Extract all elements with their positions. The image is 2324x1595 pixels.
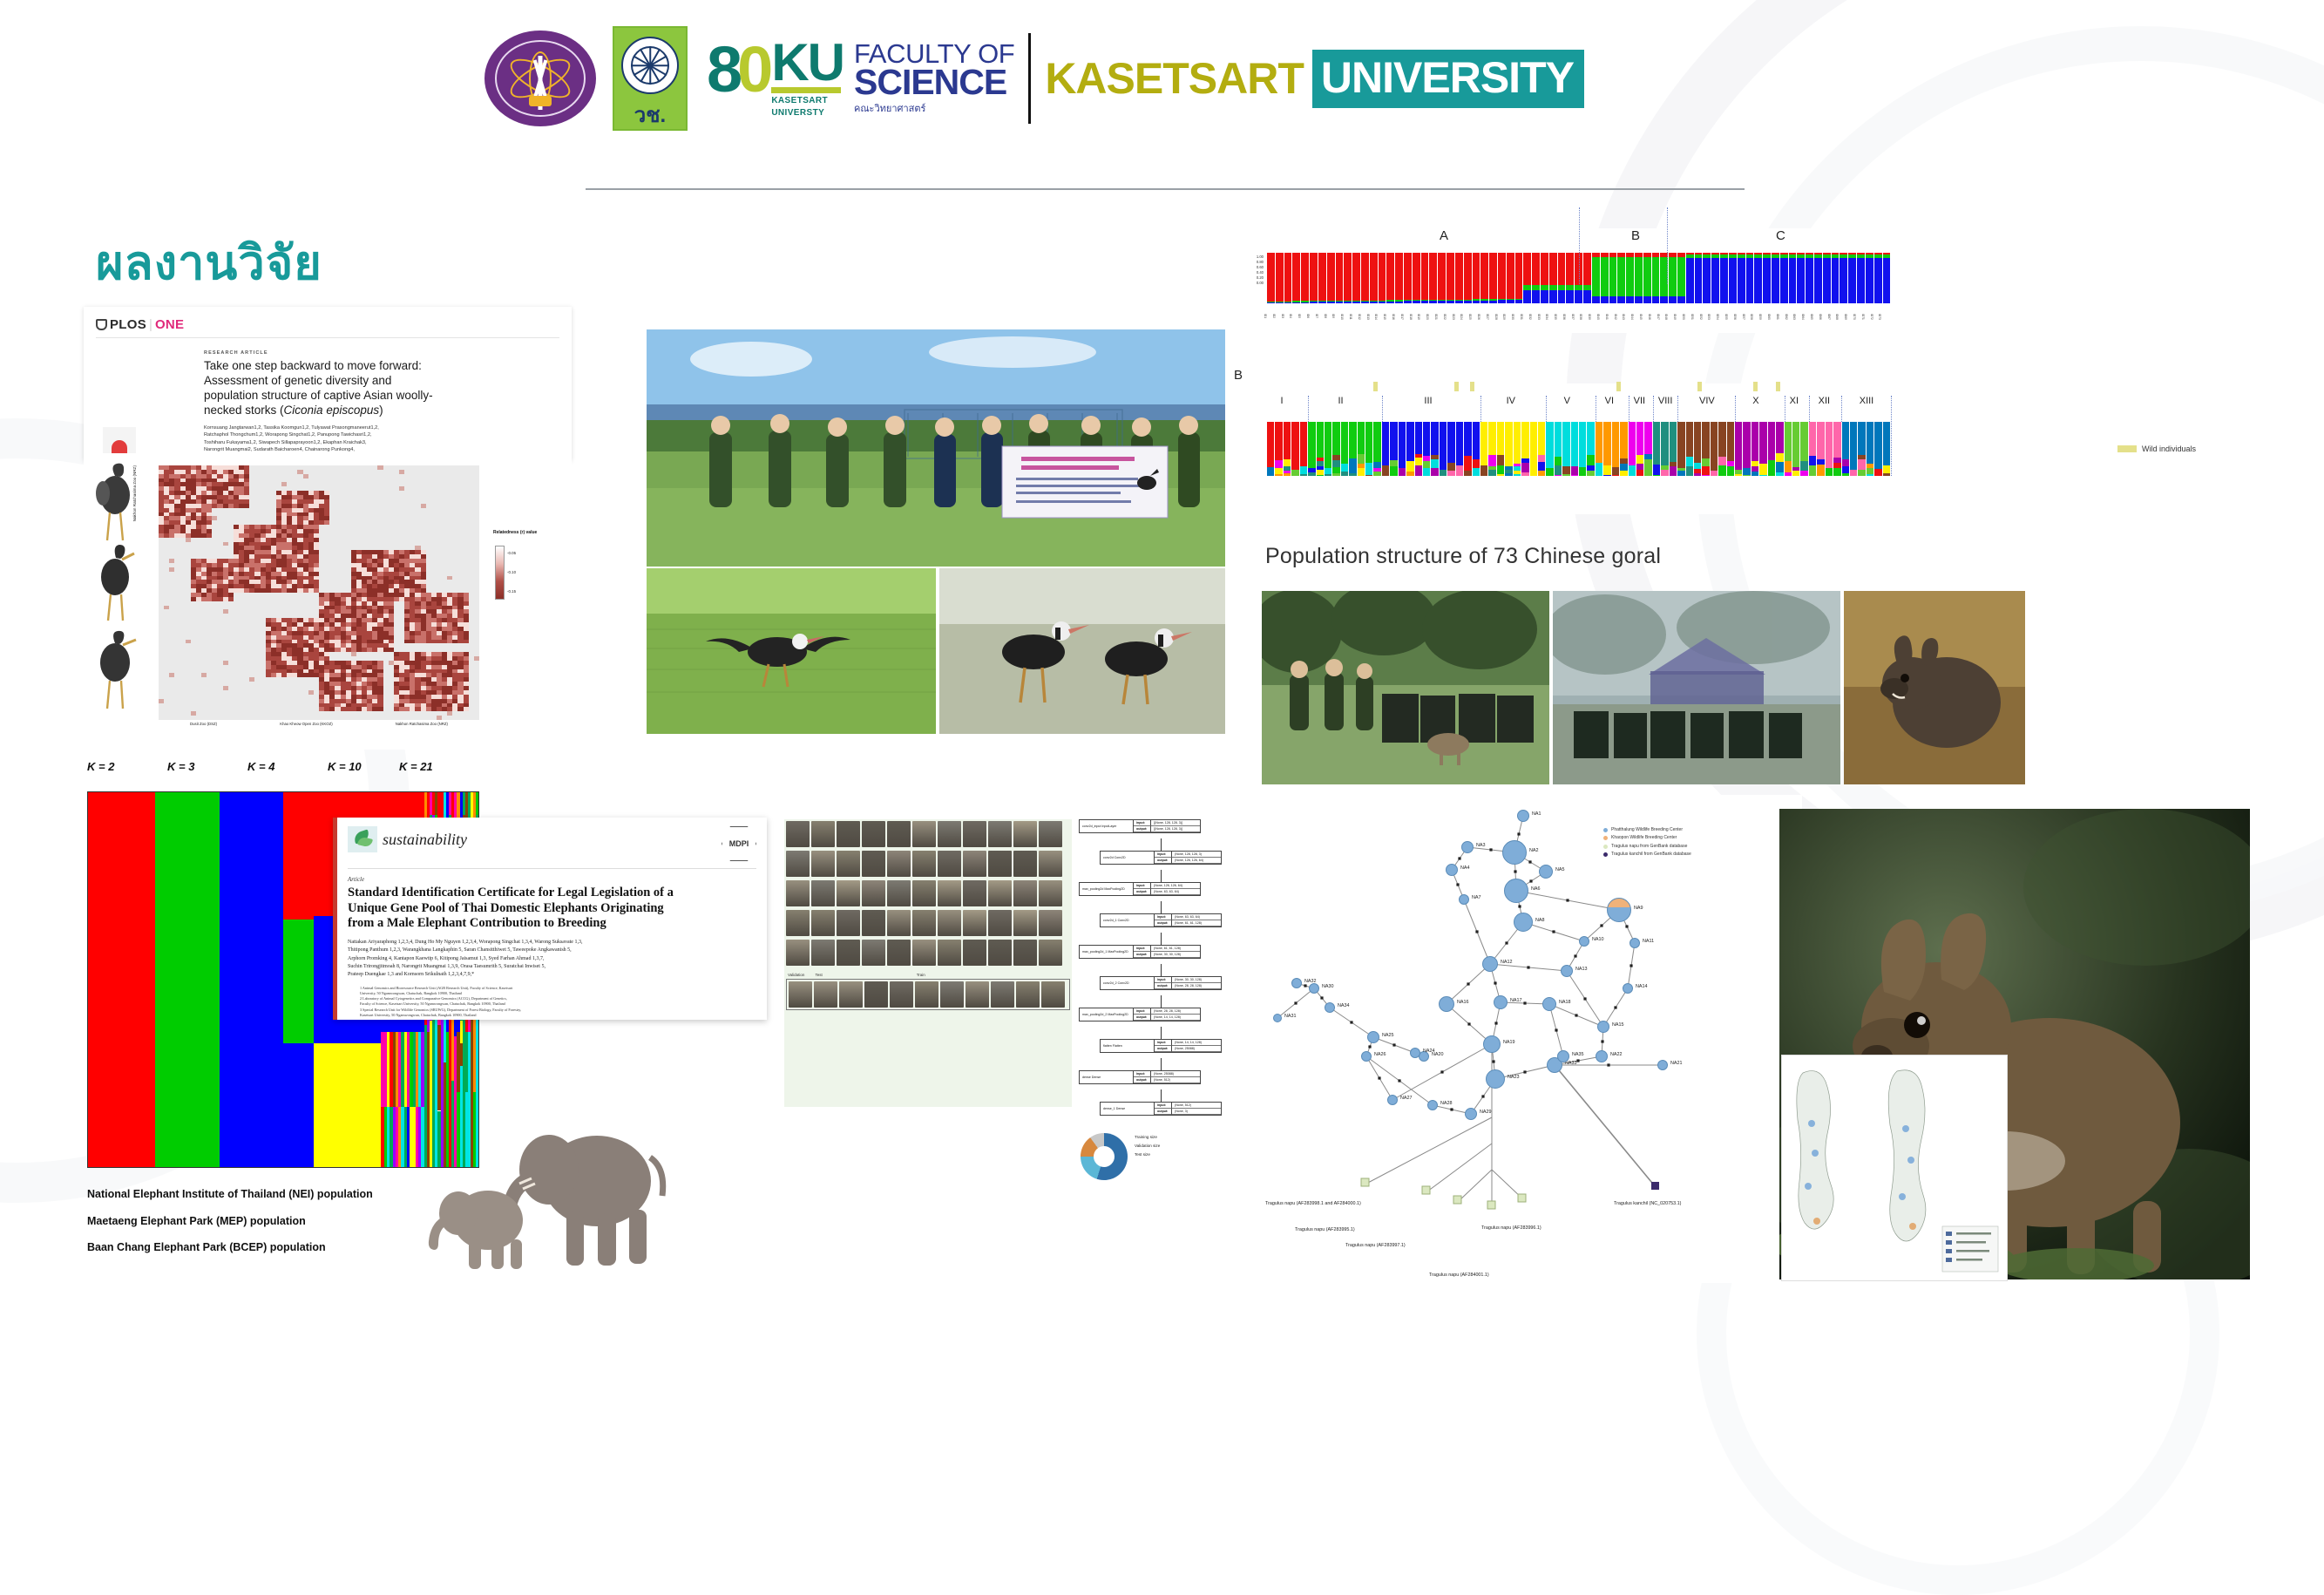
haplotype-node — [1387, 1095, 1398, 1105]
haplotype-network-svg — [1262, 795, 1802, 1283]
goral-bar — [1792, 422, 1800, 476]
haplotype-node-label: NA11 — [1643, 939, 1654, 944]
goral-bar — [1395, 253, 1404, 303]
goral-bar — [1669, 253, 1677, 303]
haplotype-node-label: NA27 — [1400, 1096, 1413, 1101]
flow-arrow — [1161, 1089, 1162, 1102]
goral-closeup-svg — [1844, 591, 2025, 784]
haplotype-node-label: NA7 — [1472, 895, 1481, 900]
goral-bar — [1523, 253, 1532, 303]
flow-node-io: input:(None, 14, 14, 128)output:(None, 2… — [1155, 1040, 1221, 1052]
goral-group-label-C: C — [1776, 228, 1785, 243]
goral-y-axis-k3: 1.00 0.80 0.60 0.40 0.20 0.00 — [1243, 255, 1264, 287]
flow-node-io: input:(None, 25088)output:(None, 512) — [1134, 1071, 1200, 1083]
goral-barplot-k13 — [1267, 422, 1891, 476]
flow-io-value: (None, 30, 30, 128) — [1172, 977, 1221, 983]
heatmap-colgroup-1: Khao Kheow Open Zoo (KKOZ) — [280, 722, 332, 726]
flow-io-value: (None, 28, 28, 128) — [1172, 983, 1221, 989]
elephant-pop-label-1: Maetaeng Elephant Park (MEP) population — [87, 1208, 373, 1235]
haplotype-node — [1557, 1050, 1569, 1062]
hap-legend-swatch-2 — [1603, 845, 1608, 849]
goral-release-photo-2 — [1553, 591, 1840, 784]
haplotype-node-label: NA24 — [1423, 1049, 1435, 1054]
elephant-thumbnail — [862, 880, 885, 906]
goral-bar — [1267, 253, 1276, 303]
flow-io-key: input: — [1155, 914, 1172, 920]
goral-bar — [1601, 253, 1609, 303]
goral-bar — [1514, 422, 1521, 476]
goral-bar — [1652, 253, 1661, 303]
goral-bar — [1806, 253, 1814, 303]
plos-one-wordmark: ONE — [155, 317, 184, 332]
goral-bar — [1292, 253, 1301, 303]
goral-bar — [1415, 422, 1423, 476]
goral-bar — [1636, 422, 1644, 476]
elephant-thumbnail — [915, 981, 938, 1008]
haplotype-network-legend: Phatthalung Wildlife Breeding Center Kha… — [1603, 826, 1691, 859]
haplotype-node-label: NA29 — [1480, 1110, 1492, 1115]
goral-bar — [1538, 422, 1546, 476]
flow-node: max_pooling2d_2 MaxPooling2Dinput:(None,… — [1079, 1008, 1201, 1021]
elephant-thumbnail — [966, 981, 989, 1008]
haplotype-node — [1542, 997, 1556, 1011]
goral-bar — [1549, 253, 1558, 303]
elephant-thumbnail — [837, 940, 860, 966]
elephant-split-test: Test — [815, 973, 822, 977]
haplotype-node — [1309, 983, 1319, 994]
plos-article-title: Take one step backward to move forward: … — [204, 359, 559, 418]
elephant-thumbnail — [1039, 880, 1062, 906]
storks-pair-svg — [939, 568, 1225, 734]
flow-node-io: input:(None, 126, 126, 64)output:(None, … — [1134, 883, 1200, 895]
flow-node-io: input:(None, 30, 30, 128)output:(None, 2… — [1155, 977, 1221, 989]
k-label-3: K = 10 — [328, 760, 399, 773]
goral-bar — [1489, 253, 1498, 303]
haplotype-node-label: NA30 — [1322, 984, 1334, 989]
elephant-thumbnail — [988, 821, 1012, 847]
sustainability-leaf-icon — [348, 826, 377, 852]
goral-bar — [1521, 422, 1529, 476]
elephant-thumbnail — [940, 981, 964, 1008]
flow-io-key: output: — [1155, 858, 1172, 864]
k-label-0: K = 2 — [87, 760, 167, 773]
goral-bar — [1703, 253, 1711, 303]
plos-footer-logo-shape — [112, 440, 127, 453]
haplotype-node — [1465, 1108, 1477, 1120]
plos-footer-logo — [103, 427, 136, 453]
haplotype-node — [1623, 983, 1633, 994]
goral-ytick-5: 0.00 — [1243, 281, 1264, 286]
heatmap-colgroup-0: Dusit Zoo (DSZ) — [190, 722, 217, 726]
haplotype-node-label: NA16 — [1457, 1000, 1469, 1005]
stork-relatedness-heatmap-figure: Nakhon Ratchasima Zoo (NRZ) Relatedness … — [84, 453, 572, 750]
wild-marker — [1776, 382, 1780, 391]
flow-node-io: input:(None, 512)output:(None, 3) — [1155, 1103, 1221, 1115]
elephant-thumbnail — [912, 821, 936, 847]
elephant-thumbnail — [837, 880, 860, 906]
elephant-grid-row — [784, 819, 1072, 849]
heatmap-legend-tick-0: -0.05 — [507, 551, 516, 555]
goral-bar — [1609, 253, 1618, 303]
goral-bar — [1325, 422, 1332, 476]
mdpi-authors-line-5: Prateep Duengkae 1,3 and Kornsorn Srikul… — [348, 971, 755, 979]
goral-caption: Population structure of 73 Chinese goral — [1265, 544, 1661, 569]
ku-wordmark: KU — [771, 40, 844, 85]
goral-bar — [1751, 422, 1759, 476]
haplotype-node-label: NA19 — [1503, 1040, 1515, 1045]
flow-io-key: input: — [1134, 1008, 1151, 1015]
flow-io-value: (None, 63, 63, 64) — [1151, 889, 1200, 895]
goral-bar — [1352, 253, 1361, 303]
haplotype-node-label: NA21 — [1670, 1061, 1683, 1066]
elephant-thumbnail — [963, 821, 986, 847]
goral-bar — [1711, 422, 1718, 476]
faculty-of-science-block: FACULTY OF SCIENCE คณะวิทยาศาสตร์ — [854, 40, 1014, 116]
goral-bar — [1365, 422, 1373, 476]
goral-bar — [1746, 253, 1755, 303]
sustainability-brand: sustainability — [348, 826, 467, 852]
goral-bar — [1344, 253, 1352, 303]
goral-bar — [1842, 422, 1850, 476]
elephant-thumbnail — [786, 821, 810, 847]
elephant-split-validation: Validation — [788, 973, 804, 977]
goral-roman-label: XIII — [1860, 396, 1874, 406]
page-title: ผลงานวิจัย — [96, 225, 322, 300]
mdpi-article-title: Standard Identification Certificate for … — [337, 883, 767, 932]
elephant-thumbnail — [789, 981, 812, 1008]
donut-legend-item-2: Test size — [1135, 1150, 1160, 1159]
haplotype-node-label: NA23 — [1508, 1075, 1520, 1080]
goral-bar — [1661, 422, 1669, 476]
flow-node: conv2d_1 Conv2Dinput:(None, 63, 63, 64)o… — [1100, 913, 1222, 927]
goral-bar — [1390, 422, 1398, 476]
elephant-thumbnail — [912, 880, 936, 906]
haplotype-node — [1439, 996, 1454, 1012]
flow-io-key: output: — [1134, 889, 1151, 895]
flow-io-value: (None, 14, 14, 128) — [1151, 1015, 1200, 1021]
goral-bar — [1718, 422, 1726, 476]
haplotype-node-label: NA1 — [1532, 811, 1541, 817]
flow-arrow — [1161, 933, 1162, 945]
ku-80-digit-0: 0 — [737, 33, 768, 105]
k-label-2: K = 4 — [247, 760, 328, 773]
haplotype-node-label: NA17 — [1510, 998, 1522, 1003]
goral-roman-label: V — [1564, 396, 1570, 406]
header-horizontal-rule — [586, 188, 1745, 190]
goral-bar — [1759, 422, 1767, 476]
elephant-thumbnail — [786, 851, 810, 877]
haplotype-node — [1461, 841, 1474, 853]
haplotype-node-label: NA10 — [1592, 937, 1604, 942]
kasetsart-university-banner: KASETSART UNIVERSITY — [1045, 51, 1584, 105]
elephant-thumbnail — [1013, 940, 1037, 966]
wild-marker — [1454, 382, 1459, 391]
flow-node-io: input:(None, 28, 28, 128)output:(None, 1… — [1134, 1008, 1200, 1021]
elephant-thumbnail — [890, 981, 913, 1008]
mdpi-authors-line-1: Nattakan Ariyaraphong 1,2,3,4, Dung Ho M… — [348, 939, 755, 947]
flow-node: max_pooling2d_1 MaxPooling2Dinput:(None,… — [1079, 945, 1201, 959]
goral-bar — [1727, 422, 1735, 476]
elephant-thumbnail — [837, 910, 860, 936]
flow-node-name: conv2d_1 Conv2D — [1101, 914, 1155, 926]
elephant-thumbnail — [811, 910, 835, 936]
goral-bar — [1562, 422, 1570, 476]
goral-bar — [1763, 253, 1772, 303]
plos-kicker: RESEARCH ARTICLE — [204, 350, 559, 356]
plos-title-line-2: Assessment of genetic diversity and — [204, 374, 559, 389]
flow-io-key: output: — [1155, 983, 1172, 989]
flow-node: conv2d_input InputLayerinput:[(None, 128… — [1079, 819, 1201, 833]
goral-bar — [1629, 422, 1636, 476]
elephant-thumbnail — [963, 910, 986, 936]
goral-bar — [1284, 253, 1293, 303]
elephant-thumbnail — [991, 981, 1014, 1008]
goral-roman-label: XI — [1790, 396, 1799, 406]
seal-inner — [495, 40, 586, 117]
elephant-thumbnail — [988, 880, 1012, 906]
haplotype-node-label: NA32 — [1304, 979, 1317, 984]
flow-io-value: (None, 61, 61, 128) — [1172, 920, 1221, 926]
plos-wordmark: PLOS — [110, 317, 146, 332]
haplotype-node-label: NA5 — [1555, 867, 1565, 872]
logo-row: วช. 80 KU KASETSART UNIVERSTY FACULTY OF… — [478, 26, 1584, 131]
flow-io-key: input: — [1155, 1040, 1172, 1046]
mdpi-authors-line-2: Thitipong Panthum 1,2,3, Warangkhana Lan… — [348, 947, 755, 954]
goral-bar — [1677, 422, 1685, 476]
goral-bar — [1566, 253, 1575, 303]
flow-io-key: input: — [1134, 1071, 1151, 1077]
flow-io-key: input: — [1134, 946, 1151, 952]
goral-bar — [1541, 253, 1549, 303]
ku-universty-label: UNIVERSTY — [771, 108, 844, 118]
flow-node-name: flatten Flatten — [1101, 1040, 1155, 1052]
distribution-map-panel — [1781, 1055, 2008, 1281]
elephant-thumbnail — [862, 821, 885, 847]
goral-bar — [1507, 253, 1515, 303]
haplotype-node-label: NA18 — [1559, 1000, 1571, 1005]
plos-authors-line-1: Kornsuang Jangtarwan1,2, Tassika Koomgun… — [204, 424, 559, 432]
goral-bar — [1626, 253, 1635, 303]
goral-bar — [1644, 422, 1652, 476]
goral-roman-label: III — [1424, 396, 1432, 406]
goral-roman-label: I — [1281, 396, 1284, 406]
goral-bar — [1660, 253, 1669, 303]
goral-bar — [1743, 422, 1751, 476]
goral-x-axis-k13 — [1267, 478, 1891, 502]
elephant-thumbnail — [837, 821, 860, 847]
goral-group-label-B: B — [1631, 228, 1640, 243]
field-team-photo-svg — [647, 329, 1225, 567]
elephant-thumbnail — [1039, 910, 1062, 936]
hap-legend-item-1: Khaopon Wildlife Breeding Center — [1603, 834, 1691, 842]
haplotype-node — [1367, 1031, 1379, 1043]
hap-legend-label-3: Tragulus kanchil from GenBank database — [1611, 851, 1691, 859]
elephant-thumbnail — [938, 940, 961, 966]
elephant-thumbnail — [839, 981, 863, 1008]
elephant-thumbnail — [1039, 940, 1062, 966]
goral-roman-label: IV — [1507, 396, 1515, 406]
goral-bar — [1456, 422, 1464, 476]
elephant-population-labels: National Elephant Institute of Thailand … — [87, 1181, 373, 1261]
goral-bar — [1447, 422, 1455, 476]
ku-80-digit-8: 8 — [707, 33, 737, 105]
plos-one-brand: PLOS | ONE — [84, 307, 572, 332]
elephant-thumbnail — [912, 851, 936, 877]
k-label-4: K = 21 — [399, 760, 433, 773]
haplotype-node-label: NA14 — [1636, 984, 1648, 989]
elephant-thumbnail — [837, 851, 860, 877]
wild-individuals-swatch — [2117, 445, 2137, 452]
haplotype-node-label: NA8 — [1535, 918, 1545, 923]
elephant-thumbnail — [811, 940, 835, 966]
flow-io-key: input: — [1134, 883, 1151, 889]
haplotype-node-label: NA25 — [1382, 1033, 1394, 1038]
flow-node-name: conv2d_2 Conv2D — [1101, 977, 1155, 989]
goral-bar — [1603, 422, 1611, 476]
flow-node: dense Denseinput:(None, 25088)output:(No… — [1079, 1070, 1201, 1084]
goral-bar — [1546, 422, 1554, 476]
goral-bar — [1670, 422, 1677, 476]
flow-arrow — [1161, 870, 1162, 882]
goral-bar — [1386, 253, 1395, 303]
elephant-thumbnail — [1013, 851, 1037, 877]
elephant-thumbnail — [938, 851, 961, 877]
mdpi-logo-icon: MDPI — [722, 826, 756, 861]
haplotype-node-label: NA26 — [1374, 1052, 1386, 1057]
goral-bar — [1336, 253, 1345, 303]
haplotype-node — [1514, 913, 1533, 932]
elephant-thumbnail — [786, 880, 810, 906]
nrct-thai-label: วช. — [634, 105, 666, 126]
goral-bar — [1738, 253, 1746, 303]
goral-bar — [1555, 422, 1562, 476]
goral-bar — [1497, 422, 1505, 476]
goral-bar — [1530, 422, 1538, 476]
flow-arrow — [1161, 1058, 1162, 1070]
elephant-thumbnail — [862, 910, 885, 936]
haplotype-node — [1561, 965, 1573, 977]
goral-bar — [1404, 253, 1413, 303]
dataset-split-donut-chart — [1081, 1133, 1128, 1180]
flow-io-value: (None, 512) — [1172, 1103, 1221, 1109]
stork-field-svg — [647, 568, 936, 734]
hap-legend-item-2: Tragulus napu from GenBank database — [1603, 843, 1691, 851]
flow-io-value: (None, 25088) — [1172, 1046, 1221, 1052]
flow-io-key: input: — [1155, 977, 1172, 983]
header-vertical-divider — [1028, 33, 1031, 124]
haplotype-node — [1482, 956, 1498, 972]
haplotype-node — [1504, 879, 1528, 903]
goral-bar — [1772, 253, 1780, 303]
hap-legend-label-1: Khaopon Wildlife Breeding Center — [1611, 834, 1677, 842]
elephant-photo-cutout — [427, 1089, 671, 1273]
haplotype-node — [1446, 864, 1458, 876]
goral-bar — [1317, 422, 1325, 476]
slide-header: วช. 80 KU KASETSART UNIVERSTY FACULTY OF… — [0, 0, 2324, 174]
mdpi-title-line-3: from a Male Elephant Contribution to Bre… — [348, 916, 755, 932]
elephant-pop-label-0: National Elephant Institute of Thailand … — [87, 1181, 373, 1208]
heatmap-colgroup-2: Nakhon Ratchasima Zoo (NRZ) — [396, 722, 448, 726]
haplotype-node — [1483, 1035, 1501, 1053]
wild-marker — [1373, 382, 1378, 391]
elephant-thumbnail — [862, 940, 885, 966]
flow-node: dense_1 Denseinput:(None, 512)output:(No… — [1100, 1102, 1222, 1116]
goral-bar — [1620, 422, 1628, 476]
elephant-thumbnail — [1013, 910, 1037, 936]
goral-roman-label: VI — [1605, 396, 1614, 406]
elephant-thumbnail — [811, 821, 835, 847]
flow-node: flatten Flatteninput:(None, 14, 14, 128)… — [1100, 1039, 1222, 1053]
wild-individuals-label: Wild individuals — [2142, 445, 2196, 453]
goral-bar — [1379, 253, 1387, 303]
goral-bar — [1275, 422, 1283, 476]
elephant-thumbnail — [887, 910, 911, 936]
flow-io-key: input: — [1155, 1103, 1172, 1109]
heatmap-legend-colorbar — [495, 546, 505, 600]
plos-species-name: Ciconia episcopus — [284, 404, 380, 417]
goral-bar — [1883, 422, 1891, 476]
plos-mark-icon — [96, 319, 107, 330]
goral-x-axis-k3: ID1ID2ID3ID4ID5ID6ID7ID8ID9ID10ID11ID12I… — [1267, 305, 1891, 328]
flow-io-value: (None, 3) — [1172, 1109, 1221, 1115]
goral-bar — [1797, 253, 1806, 303]
plos-body: RESEARCH ARTICLE Take one step backward … — [84, 338, 572, 462]
elephant-thumbnail — [887, 880, 911, 906]
flow-node-name: dense_1 Dense — [1101, 1103, 1155, 1115]
donut-legend: Training size Validation size Test size — [1135, 1133, 1160, 1159]
haplotype-node — [1597, 1021, 1609, 1033]
sustainability-wordmark: sustainability — [383, 831, 467, 849]
goral-bar — [1883, 253, 1892, 303]
goral-bar — [1370, 253, 1379, 303]
mdpi-authors-line-4: Suchin Trirongjitmoah 8, Narongrit Muang… — [348, 963, 755, 971]
haplotype-node — [1459, 894, 1469, 905]
haplotype-node-label: NA28 — [1440, 1101, 1453, 1106]
elephant-thumbnail — [887, 940, 911, 966]
heatmap-legend-tick-1: -0.10 — [507, 570, 516, 574]
elephant-thumbnail — [811, 851, 835, 877]
goral-roman-label: VIV — [1699, 396, 1715, 406]
flow-io-key: output: — [1134, 1077, 1151, 1083]
stork-in-field-photo — [647, 568, 936, 734]
plos-one-article-panel: PLOS | ONE RESEARCH ARTICLE Take one ste… — [84, 307, 572, 460]
flow-io-value: (None, 28, 28, 128) — [1151, 1008, 1200, 1015]
goral-bar — [1694, 422, 1702, 476]
goral-bar — [1702, 422, 1710, 476]
haplotype-node — [1502, 840, 1527, 865]
flow-io-key: input: — [1155, 852, 1172, 858]
elephant-thumbnail — [963, 940, 986, 966]
elephant-thumbnail — [811, 880, 835, 906]
goral-bar — [1480, 422, 1488, 476]
mdpi-title-line-2: Unique Gene Pool of Thai Domestic Elepha… — [348, 901, 755, 917]
elephant-thumbnail — [912, 910, 936, 936]
flow-node-io: input:(None, 61, 61, 128)output:(None, 3… — [1134, 946, 1200, 958]
goral-bar — [1308, 422, 1316, 476]
goral-bar — [1874, 253, 1883, 303]
flow-node-io: input:[(None, 128, 128, 3)]output:[(None… — [1134, 820, 1200, 832]
hap-terminal-4: Tragulus napu (AF284001.1) — [1429, 1273, 1489, 1278]
goral-bar — [1867, 422, 1874, 476]
goral-bar — [1711, 253, 1720, 303]
hap-legend-swatch-0 — [1603, 828, 1608, 832]
hap-legend-swatch-3 — [1603, 852, 1608, 857]
haplotype-node — [1486, 1069, 1505, 1089]
goral-bar — [1558, 253, 1567, 303]
goral-bar — [1423, 422, 1431, 476]
distribution-map-svg — [1782, 1055, 2007, 1280]
flow-io-value: (None, 63, 63, 64) — [1172, 914, 1221, 920]
